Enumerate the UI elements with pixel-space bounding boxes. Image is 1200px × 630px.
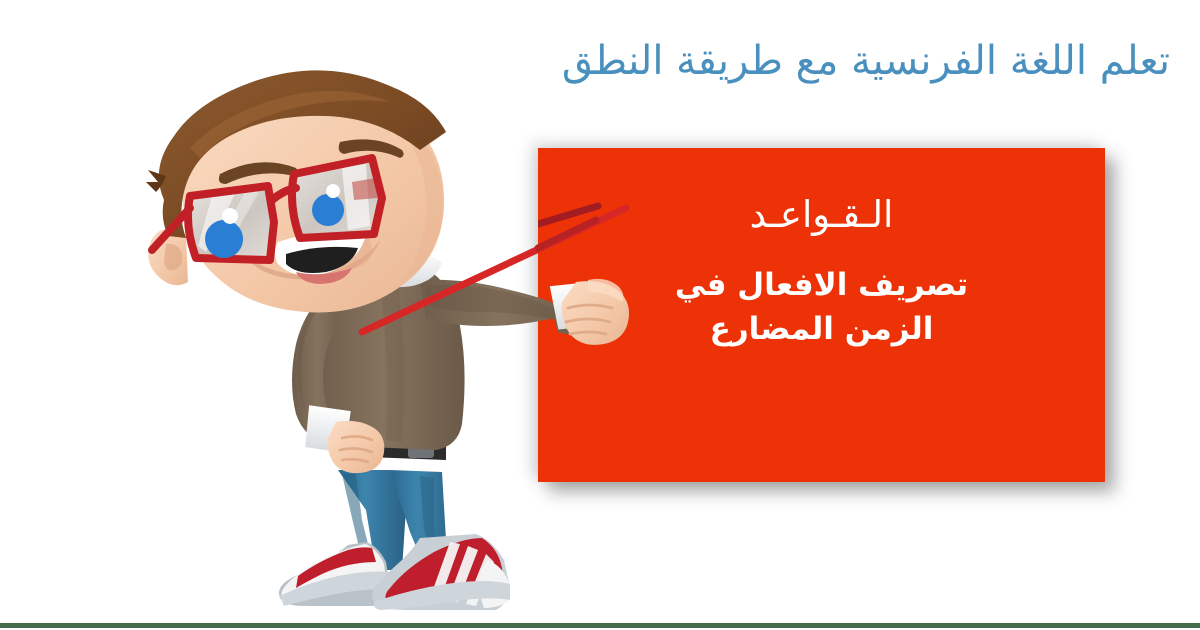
teacher-character-illustration [90, 40, 630, 610]
pointer-tip-on-board [538, 148, 658, 268]
eye-left [205, 220, 243, 258]
board-subheading: تصريف الافعال في الزمن المضارع [657, 263, 987, 351]
head-group [146, 70, 446, 312]
slide-canvas: تعلم اللغة الفرنسية مع طريقة النطق الـقـ… [0, 0, 1200, 630]
eye-right [312, 194, 344, 226]
bottom-divider [0, 623, 1200, 628]
right-hand [562, 279, 629, 345]
